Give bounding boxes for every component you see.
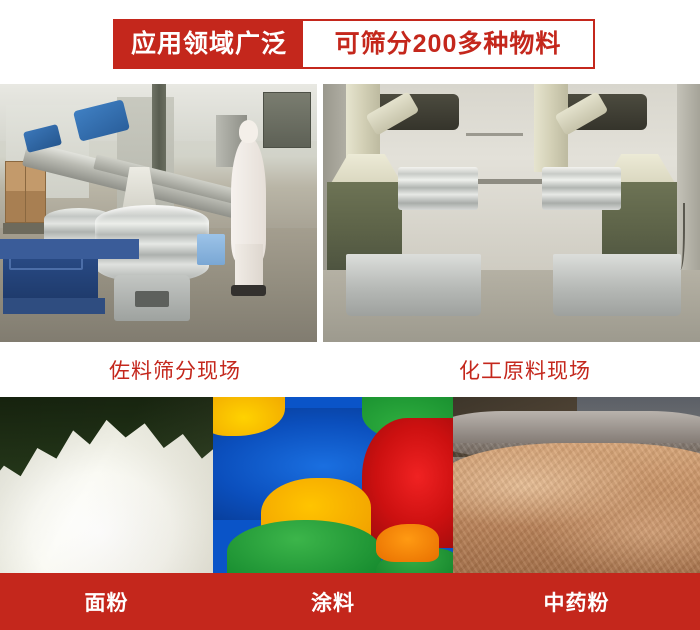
header-tag-label: 应用领域广泛 bbox=[115, 21, 303, 67]
pallet-under-boxes bbox=[3, 223, 47, 233]
right-steel-drum bbox=[610, 254, 682, 316]
flour-powder-photo bbox=[0, 397, 213, 573]
bottom-label-bar: 面粉 涂料 中药粉 bbox=[0, 573, 700, 630]
green-pigment-bottom bbox=[227, 520, 381, 573]
left-sieve-drum bbox=[410, 254, 482, 316]
herbal-powder-texture bbox=[453, 443, 700, 573]
bottom-photo-row bbox=[0, 397, 700, 573]
sieve-motor-base bbox=[114, 275, 190, 321]
header-banner: 应用领域广泛 可筛分200多种物料 bbox=[113, 19, 595, 69]
worker-shoes bbox=[231, 285, 266, 295]
bottom-label-flour: 面粉 bbox=[0, 573, 213, 630]
caption-spice-sieving: 佐料筛分现场 bbox=[0, 342, 350, 397]
control-cabinet bbox=[263, 92, 311, 149]
chinese-herbal-medicine-powder-photo bbox=[453, 397, 700, 573]
blue-pallet bbox=[3, 298, 104, 313]
top-caption-row: 佐料筛分现场 化工原料现场 bbox=[0, 342, 700, 397]
wall-hanging-rod bbox=[466, 133, 523, 136]
bottom-label-paint: 涂料 bbox=[213, 573, 453, 630]
chemical-raw-material-workshop-photo bbox=[323, 84, 700, 342]
caption-chemical-raw-material: 化工原料现场 bbox=[350, 342, 700, 397]
worker-legs bbox=[235, 244, 264, 290]
promo-page: 应用领域广泛 可筛分200多种物料 bbox=[0, 0, 700, 630]
header-subtitle-label: 可筛分200多种物料 bbox=[303, 21, 593, 67]
left-steel-drum bbox=[346, 254, 418, 316]
bottom-label-herbal-powder: 中药粉 bbox=[453, 573, 700, 630]
paint-pigment-powder-photo bbox=[213, 397, 453, 573]
orange-pigment-pile bbox=[376, 524, 438, 563]
left-vibrating-sieve bbox=[398, 167, 477, 211]
worker-head-cap bbox=[239, 120, 258, 143]
blue-bin-lip bbox=[0, 239, 139, 260]
spice-sieving-workshop-photo bbox=[0, 84, 317, 342]
top-photo-row bbox=[0, 84, 700, 342]
blue-plastic-stool bbox=[197, 234, 226, 265]
right-vibrating-sieve bbox=[542, 167, 621, 211]
cardboard-boxes bbox=[5, 161, 46, 223]
flour-shading-overlay bbox=[0, 397, 213, 573]
